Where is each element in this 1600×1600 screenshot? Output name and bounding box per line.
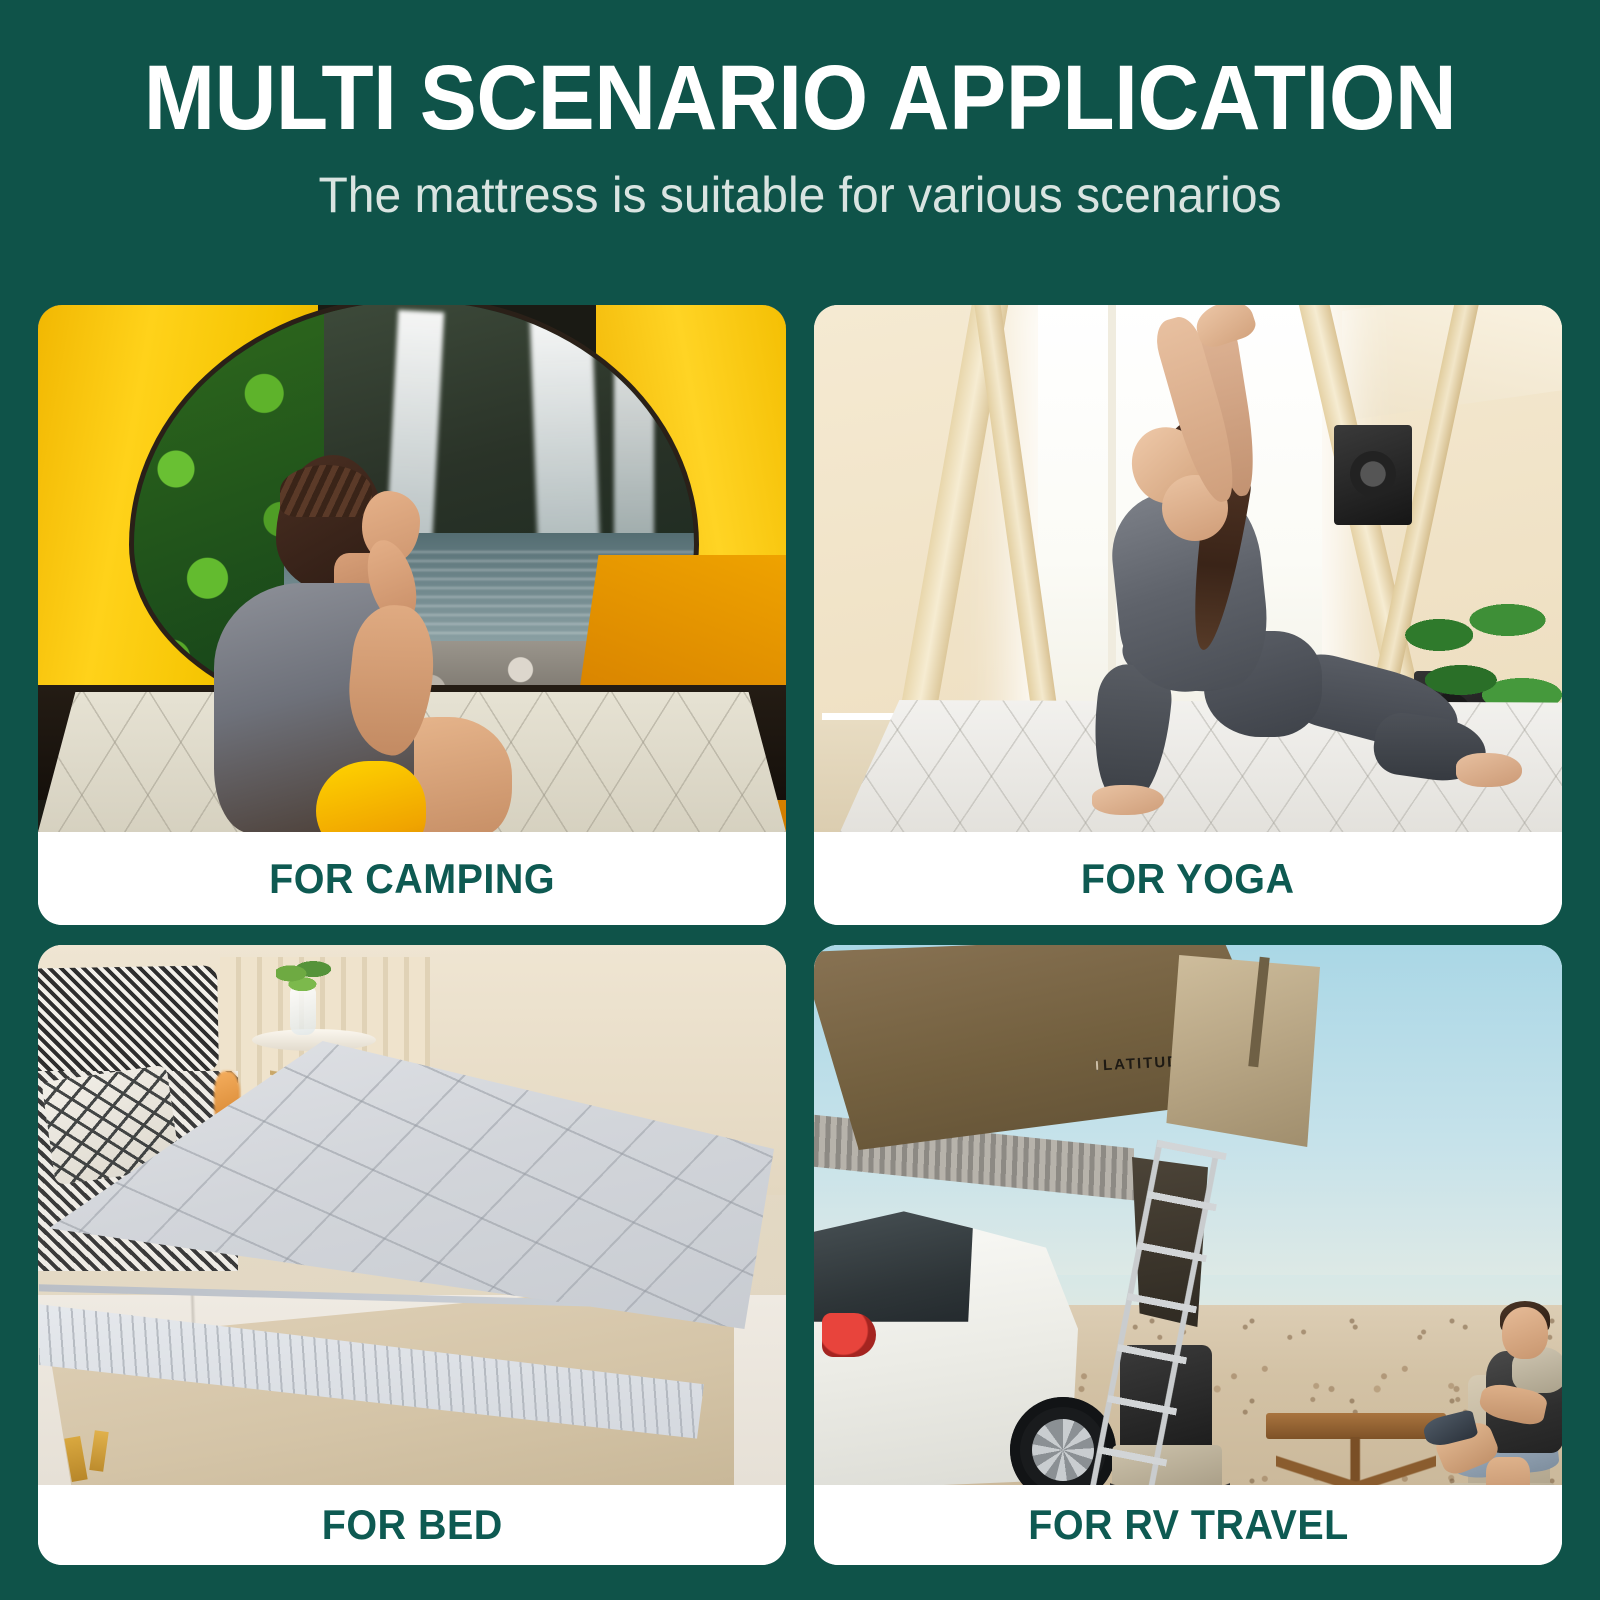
camping-scene <box>38 305 786 832</box>
seated-woman <box>184 455 514 832</box>
bed-photo <box>38 945 786 1485</box>
scenario-grid: FOR CAMPING <box>38 305 1562 1565</box>
waterfall-stream-2 <box>529 305 600 572</box>
scenario-label-yoga: FOR YOGA <box>1081 855 1295 903</box>
man-lower-leg <box>1486 1457 1530 1485</box>
woman-back-foot <box>1456 753 1522 787</box>
rv-travel-photo: LATITUDE <box>814 945 1562 1485</box>
man-head <box>1502 1307 1548 1359</box>
rv-travel-label-strip: FOR RV TRAVEL <box>814 1485 1562 1565</box>
rv-scene: LATITUDE <box>814 945 1562 1485</box>
brand-logo-icon <box>1096 1057 1099 1073</box>
scenario-label-camping: FOR CAMPING <box>269 855 555 903</box>
table-legs <box>1276 1437 1436 1485</box>
camping-label-strip: FOR CAMPING <box>38 832 786 925</box>
headboard <box>38 965 219 1074</box>
green-foliage <box>276 959 336 995</box>
page-subtitle: The mattress is suitable for various sce… <box>32 168 1568 223</box>
scenario-label-bed: FOR BED <box>322 1501 503 1549</box>
tent-cover-bag <box>1160 955 1320 1155</box>
woman-braid <box>280 465 372 517</box>
bed-label-strip: FOR BED <box>38 1485 786 1565</box>
yoga-label-strip: FOR YOGA <box>814 832 1562 925</box>
yoga-woman <box>1044 315 1474 832</box>
woman-front-foot <box>1092 785 1164 815</box>
header: MULTI SCENARIO APPLICATION The mattress … <box>0 0 1600 300</box>
camping-photo <box>38 305 786 832</box>
scenario-card-bed[interactable]: FOR BED <box>38 945 786 1565</box>
scenario-card-camping[interactable]: FOR CAMPING <box>38 305 786 925</box>
bed-scene <box>38 945 786 1485</box>
scenario-card-rv-travel[interactable]: LATITUDE <box>814 945 1562 1565</box>
page-title: MULTI SCENARIO APPLICATION <box>56 52 1544 144</box>
table-top <box>1266 1413 1446 1439</box>
folding-wooden-table <box>1266 1413 1446 1485</box>
seated-man <box>1440 1307 1562 1485</box>
scenario-label-rv-travel: FOR RV TRAVEL <box>1028 1501 1349 1549</box>
waterfall-stream-3 <box>614 315 654 545</box>
infographic-page: MULTI SCENARIO APPLICATION The mattress … <box>0 0 1600 1600</box>
car-taillight <box>822 1313 876 1357</box>
yoga-scene <box>814 305 1562 832</box>
yoga-photo <box>814 305 1562 832</box>
scenario-card-yoga[interactable]: FOR YOGA <box>814 305 1562 925</box>
